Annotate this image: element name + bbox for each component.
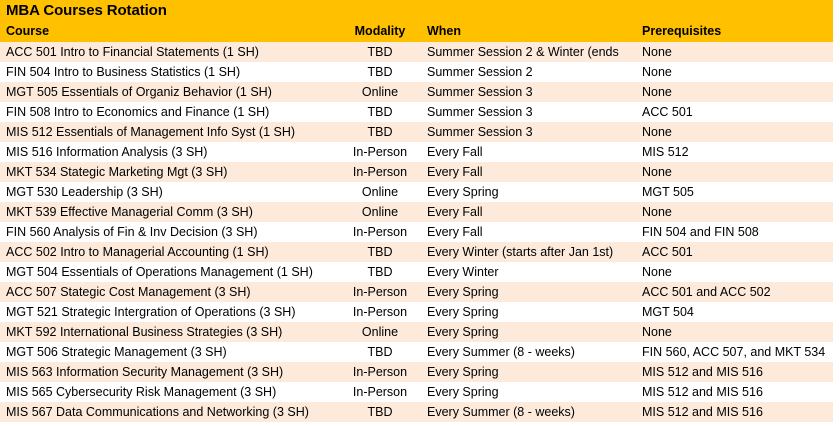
cell-when: Every Winter [422,265,640,280]
cell-modality: Online [338,205,422,220]
cell-prereq: FIN 504 and FIN 508 [640,225,833,240]
table-row: ACC 501 Intro to Financial Statements (1… [0,42,833,62]
cell-prereq: ACC 501 [640,245,833,260]
cell-prereq: MIS 512 and MIS 516 [640,405,833,420]
cell-course: MKT 534 Stategic Marketing Mgt (3 SH) [0,165,338,180]
cell-modality: TBD [338,105,422,120]
cell-when: Every Winter (starts after Jan 1st) [422,245,640,260]
cell-prereq: MGT 505 [640,185,833,200]
cell-prereq: MIS 512 and MIS 516 [640,365,833,380]
cell-modality: TBD [338,45,422,60]
table-row: ACC 507 Stategic Cost Management (3 SH)I… [0,282,833,302]
cell-modality: TBD [338,125,422,140]
cell-prereq: FIN 560, ACC 507, and MKT 534 [640,345,833,360]
cell-modality: Online [338,185,422,200]
cell-prereq: None [640,165,833,180]
cell-modality: Online [338,325,422,340]
cell-modality: In-Person [338,385,422,400]
cell-modality: TBD [338,245,422,260]
cell-modality: TBD [338,345,422,360]
cell-prereq: MIS 512 and MIS 516 [640,385,833,400]
cell-modality: In-Person [338,225,422,240]
cell-when: Every Summer (8 - weeks) [422,405,640,420]
cell-prereq: None [640,45,833,60]
cell-course: ACC 502 Intro to Managerial Accounting (… [0,245,338,260]
cell-prereq: None [640,205,833,220]
cell-course: MGT 505 Essentials of Organiz Behavior (… [0,85,338,100]
cell-modality: In-Person [338,285,422,300]
cell-when: Every Summer (8 - weeks) [422,345,640,360]
table-row: ACC 502 Intro to Managerial Accounting (… [0,242,833,262]
cell-course: MIS 516 Information Analysis (3 SH) [0,145,338,160]
cell-when: Every Spring [422,365,640,380]
cell-course: FIN 560 Analysis of Fin & Inv Decision (… [0,225,338,240]
cell-when: Summer Session 3 [422,85,640,100]
cell-course: MIS 512 Essentials of Management Info Sy… [0,125,338,140]
table-row: FIN 560 Analysis of Fin & Inv Decision (… [0,222,833,242]
table-row: MIS 565 Cybersecurity Risk Management (3… [0,382,833,402]
table-header-row: Course Modality When Prerequisites [0,21,833,42]
cell-prereq: None [640,85,833,100]
table-row: MGT 506 Strategic Management (3 SH)TBDEv… [0,342,833,362]
cell-course: MKT 592 International Business Strategie… [0,325,338,340]
cell-prereq: ACC 501 and ACC 502 [640,285,833,300]
cell-prereq: None [640,125,833,140]
cell-when: Every Spring [422,185,640,200]
cell-when: Every Spring [422,305,640,320]
cell-prereq: MGT 504 [640,305,833,320]
table-row: MKT 592 International Business Strategie… [0,322,833,342]
table-row: MGT 521 Strategic Intergration of Operat… [0,302,833,322]
cell-modality: TBD [338,65,422,80]
cell-prereq: None [640,265,833,280]
cell-modality: TBD [338,405,422,420]
table-row: MIS 512 Essentials of Management Info Sy… [0,122,833,142]
cell-course: ACC 507 Stategic Cost Management (3 SH) [0,285,338,300]
cell-prereq: None [640,65,833,80]
cell-modality: In-Person [338,365,422,380]
cell-when: Every Fall [422,225,640,240]
cell-when: Summer Session 2 [422,65,640,80]
cell-when: Summer Session 2 & Winter (ends [422,45,640,60]
table-row: MIS 516 Information Analysis (3 SH)In-Pe… [0,142,833,162]
cell-when: Summer Session 3 [422,125,640,140]
cell-when: Every Fall [422,205,640,220]
column-header-prerequisites: Prerequisites [640,24,833,39]
cell-course: ACC 501 Intro to Financial Statements (1… [0,45,338,60]
table-row: MIS 563 Information Security Management … [0,362,833,382]
cell-course: MGT 530 Leadership (3 SH) [0,185,338,200]
table-row: FIN 508 Intro to Economics and Finance (… [0,102,833,122]
cell-course: MKT 539 Effective Managerial Comm (3 SH) [0,205,338,220]
cell-when: Every Spring [422,385,640,400]
page-title: MBA Courses Rotation [6,3,167,19]
cell-modality: Online [338,85,422,100]
cell-course: FIN 504 Intro to Business Statistics (1 … [0,65,338,80]
cell-prereq: ACC 501 [640,105,833,120]
cell-course: MGT 506 Strategic Management (3 SH) [0,345,338,360]
cell-course: FIN 508 Intro to Economics and Finance (… [0,105,338,120]
cell-course: MIS 563 Information Security Management … [0,365,338,380]
cell-modality: In-Person [338,165,422,180]
cell-when: Summer Session 3 [422,105,640,120]
cell-modality: TBD [338,265,422,280]
cell-modality: In-Person [338,145,422,160]
table-body: ACC 501 Intro to Financial Statements (1… [0,42,833,422]
cell-modality: In-Person [338,305,422,320]
cell-when: Every Spring [422,285,640,300]
column-header-modality: Modality [338,24,422,39]
cell-when: Every Fall [422,145,640,160]
table-row: FIN 504 Intro to Business Statistics (1 … [0,62,833,82]
table-row: MGT 530 Leadership (3 SH)OnlineEvery Spr… [0,182,833,202]
column-header-when: When [422,24,640,39]
cell-prereq: None [640,325,833,340]
cell-course: MGT 504 Essentials of Operations Managem… [0,265,338,280]
cell-course: MIS 567 Data Communications and Networki… [0,405,338,420]
cell-when: Every Spring [422,325,640,340]
table-row: MKT 539 Effective Managerial Comm (3 SH)… [0,202,833,222]
cell-prereq: MIS 512 [640,145,833,160]
table-row: MIS 567 Data Communications and Networki… [0,402,833,422]
table-row: MKT 534 Stategic Marketing Mgt (3 SH)In-… [0,162,833,182]
table-row: MGT 505 Essentials of Organiz Behavior (… [0,82,833,102]
column-header-course: Course [0,24,338,39]
table-title-bar: MBA Courses Rotation [0,0,833,21]
cell-when: Every Fall [422,165,640,180]
table-row: MGT 504 Essentials of Operations Managem… [0,262,833,282]
cell-course: MIS 565 Cybersecurity Risk Management (3… [0,385,338,400]
cell-course: MGT 521 Strategic Intergration of Operat… [0,305,338,320]
mba-courses-rotation-table: MBA Courses Rotation Course Modality Whe… [0,0,833,425]
